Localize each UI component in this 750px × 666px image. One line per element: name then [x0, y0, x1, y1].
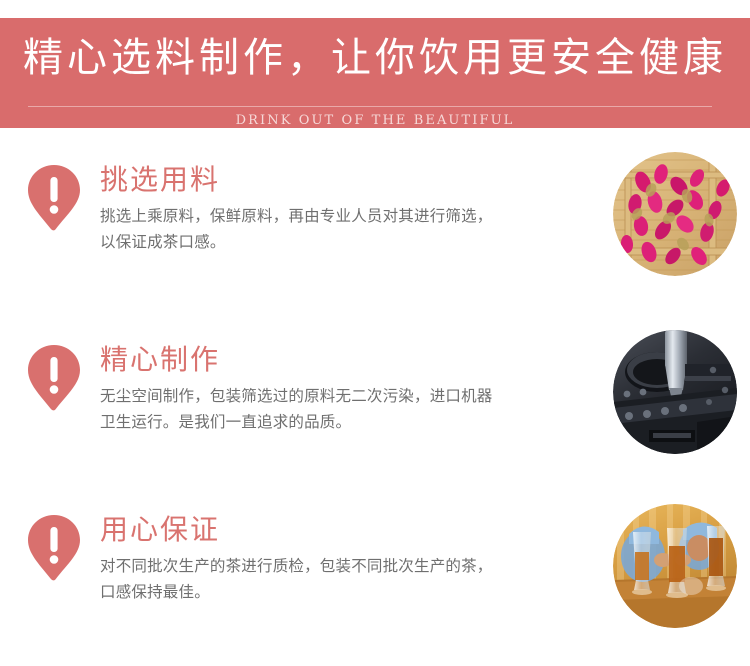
- rose-buds-on-bamboo-tray-photo: [613, 152, 737, 276]
- feature-description-line: 无尘空间制作，包装筛选过的原料无二次污染，进口机器: [100, 384, 580, 410]
- feature-description-line: 对不同批次生产的茶进行质检，包装不同批次生产的茶，: [100, 554, 580, 580]
- feature-description: 挑选上乘原料，保鲜原料，再由专业人员对其进行筛选， 以保证成茶口感。: [100, 204, 580, 256]
- feature-heading: 精心制作: [100, 330, 580, 380]
- feature-description: 对不同批次生产的茶进行质检，包装不同批次生产的茶， 口感保持最佳。: [100, 554, 580, 606]
- feature-description-line: 以保证成茶口感。: [100, 230, 580, 256]
- feature-content: 挑选用料 挑选上乘原料，保鲜原料，再由专业人员对其进行筛选， 以保证成茶口感。: [100, 150, 580, 256]
- industrial-machinery-photo: [613, 330, 737, 454]
- feature-description-line: 口感保持最佳。: [100, 580, 580, 606]
- exclamation-pin-icon: [26, 344, 82, 412]
- tea-tasting-glasses-photo: [613, 504, 737, 628]
- feature-content: 用心保证 对不同批次生产的茶进行质检，包装不同批次生产的茶， 口感保持最佳。: [100, 500, 580, 606]
- exclamation-pin-icon: [26, 164, 82, 232]
- page-subtitle: DRINK OUT OF THE BEAUTIFUL: [0, 107, 750, 128]
- feature-description-line: 卫生运行。是我们一直追求的品质。: [100, 410, 580, 436]
- page-header-banner: 精心选料制作，让你饮用更安全健康 DRINK OUT OF THE BEAUTI…: [0, 18, 750, 128]
- feature-description: 无尘空间制作，包装筛选过的原料无二次污染，进口机器 卫生运行。是我们一直追求的品…: [100, 384, 580, 436]
- feature-heading: 用心保证: [100, 500, 580, 550]
- feature-heading: 挑选用料: [100, 150, 580, 200]
- exclamation-pin-icon: [26, 514, 82, 582]
- page-title: 精心选料制作，让你饮用更安全健康: [0, 32, 750, 84]
- feature-content: 精心制作 无尘空间制作，包装筛选过的原料无二次污染，进口机器 卫生运行。是我们一…: [100, 330, 580, 436]
- feature-description-line: 挑选上乘原料，保鲜原料，再由专业人员对其进行筛选，: [100, 204, 580, 230]
